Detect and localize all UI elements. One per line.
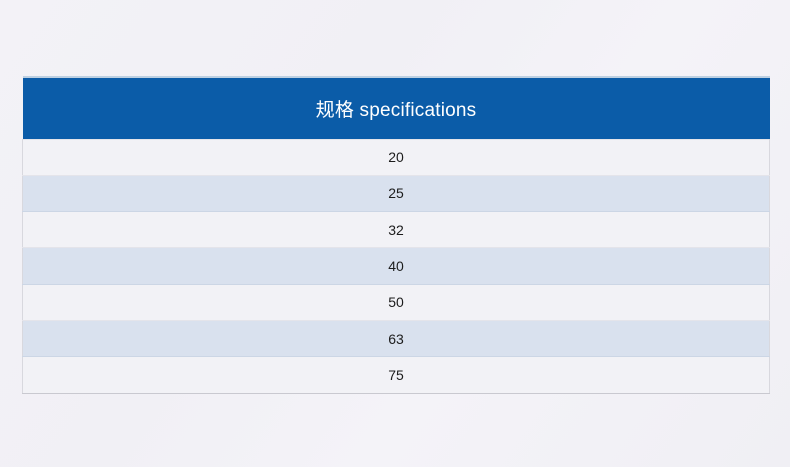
table-header-row: 规格 specifications (23, 77, 770, 139)
specifications-table: 规格 specifications 20 25 32 40 50 63 (22, 76, 770, 394)
table-row: 50 (23, 284, 770, 320)
table-row: 20 (23, 139, 770, 175)
column-header-specifications: 规格 specifications (23, 77, 770, 139)
cell-specification-value: 63 (23, 320, 770, 356)
cell-specification-value: 32 (23, 212, 770, 248)
table-row: 32 (23, 212, 770, 248)
table-header: 规格 specifications (23, 77, 770, 139)
table-row: 40 (23, 248, 770, 284)
cell-specification-value: 50 (23, 284, 770, 320)
specifications-table-container: 规格 specifications 20 25 32 40 50 63 (22, 76, 770, 394)
cell-specification-value: 40 (23, 248, 770, 284)
cell-specification-value: 20 (23, 139, 770, 175)
table-body: 20 25 32 40 50 63 75 (23, 139, 770, 393)
table-row: 25 (23, 175, 770, 211)
table-row: 63 (23, 320, 770, 356)
cell-specification-value: 25 (23, 175, 770, 211)
table-row: 75 (23, 357, 770, 393)
cell-specification-value: 75 (23, 357, 770, 393)
